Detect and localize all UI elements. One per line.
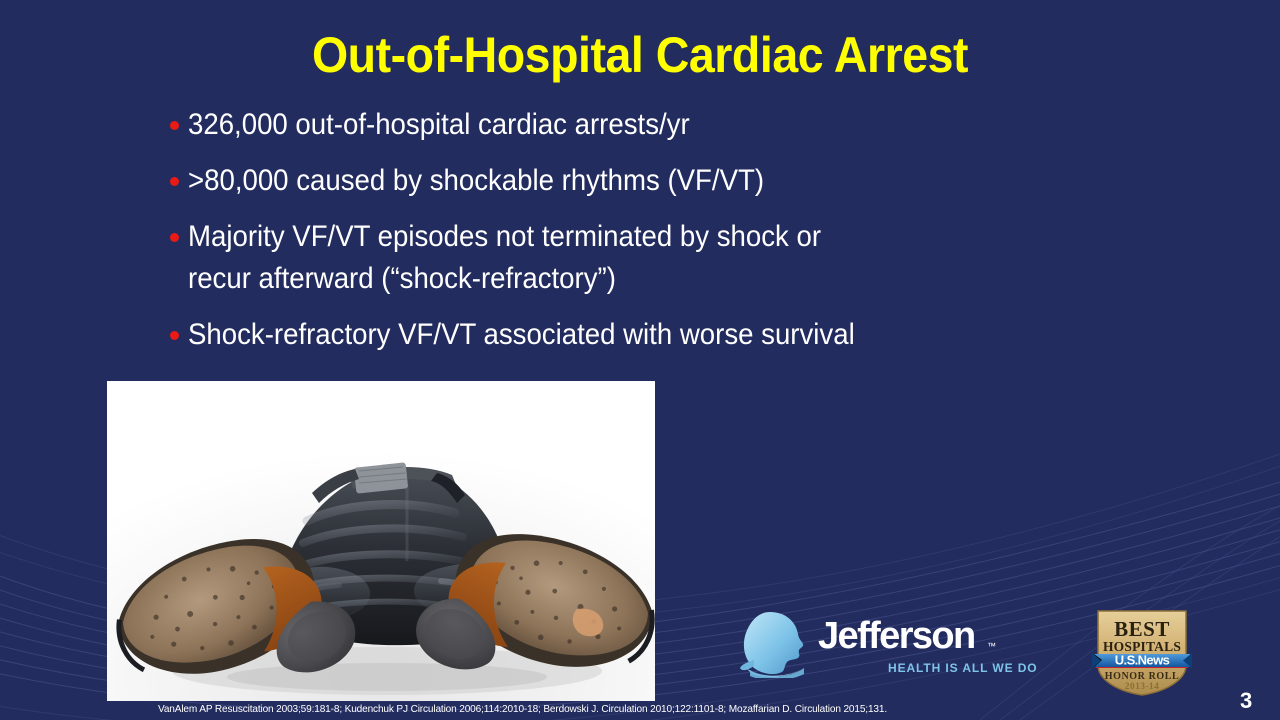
slide-number: 3	[1240, 688, 1252, 714]
collapsed-person-photo	[107, 381, 655, 701]
bullet-dot-icon	[170, 121, 179, 130]
jefferson-head-profile-icon	[740, 610, 814, 678]
list-item: >80,000 caused by shockable rhythms (VF/…	[170, 160, 1180, 202]
badge-line-best: BEST	[1114, 617, 1170, 641]
citation-references: VanAlem AP Resuscitation 2003;59:181-8; …	[158, 703, 1118, 715]
bullet-text: Majority VF/VT episodes not terminated b…	[188, 216, 821, 300]
trademark-symbol: ™	[987, 641, 996, 651]
bullet-dot-icon	[170, 331, 179, 340]
bullet-dot-icon	[170, 177, 179, 186]
slide: Out-of-Hospital Cardiac Arrest 326,000 o…	[0, 0, 1280, 720]
bullet-text: 326,000 out-of-hospital cardiac arrests/…	[188, 104, 690, 146]
slide-title: Out-of-Hospital Cardiac Arrest	[45, 26, 1235, 84]
bullet-text: >80,000 caused by shockable rhythms (VF/…	[188, 160, 764, 202]
bullet-dot-icon	[170, 233, 179, 242]
list-item: 326,000 out-of-hospital cardiac arrests/…	[170, 104, 1180, 146]
jefferson-wordmark: Jefferson	[818, 616, 975, 656]
bullet-list: 326,000 out-of-hospital cardiac arrests/…	[170, 104, 1180, 370]
badge-line-honor-roll: HONOR ROLL	[1105, 671, 1180, 682]
usnews-best-hospitals-badge: BEST HOSPITALS U.S.News HONOR ROLL 2013-…	[1092, 609, 1192, 697]
list-item: Majority VF/VT episodes not terminated b…	[170, 216, 1180, 300]
badge-line-usnews: U.S.News	[1115, 653, 1170, 668]
jefferson-logo: Jefferson ™ HEALTH IS ALL WE DO	[740, 608, 1040, 680]
bullet-text: Shock-refractory VF/VT associated with w…	[188, 314, 855, 356]
list-item: Shock-refractory VF/VT associated with w…	[170, 314, 1180, 356]
badge-line-year: 2013-14	[1125, 682, 1159, 692]
jefferson-tagline: HEALTH IS ALL WE DO	[888, 661, 1038, 675]
